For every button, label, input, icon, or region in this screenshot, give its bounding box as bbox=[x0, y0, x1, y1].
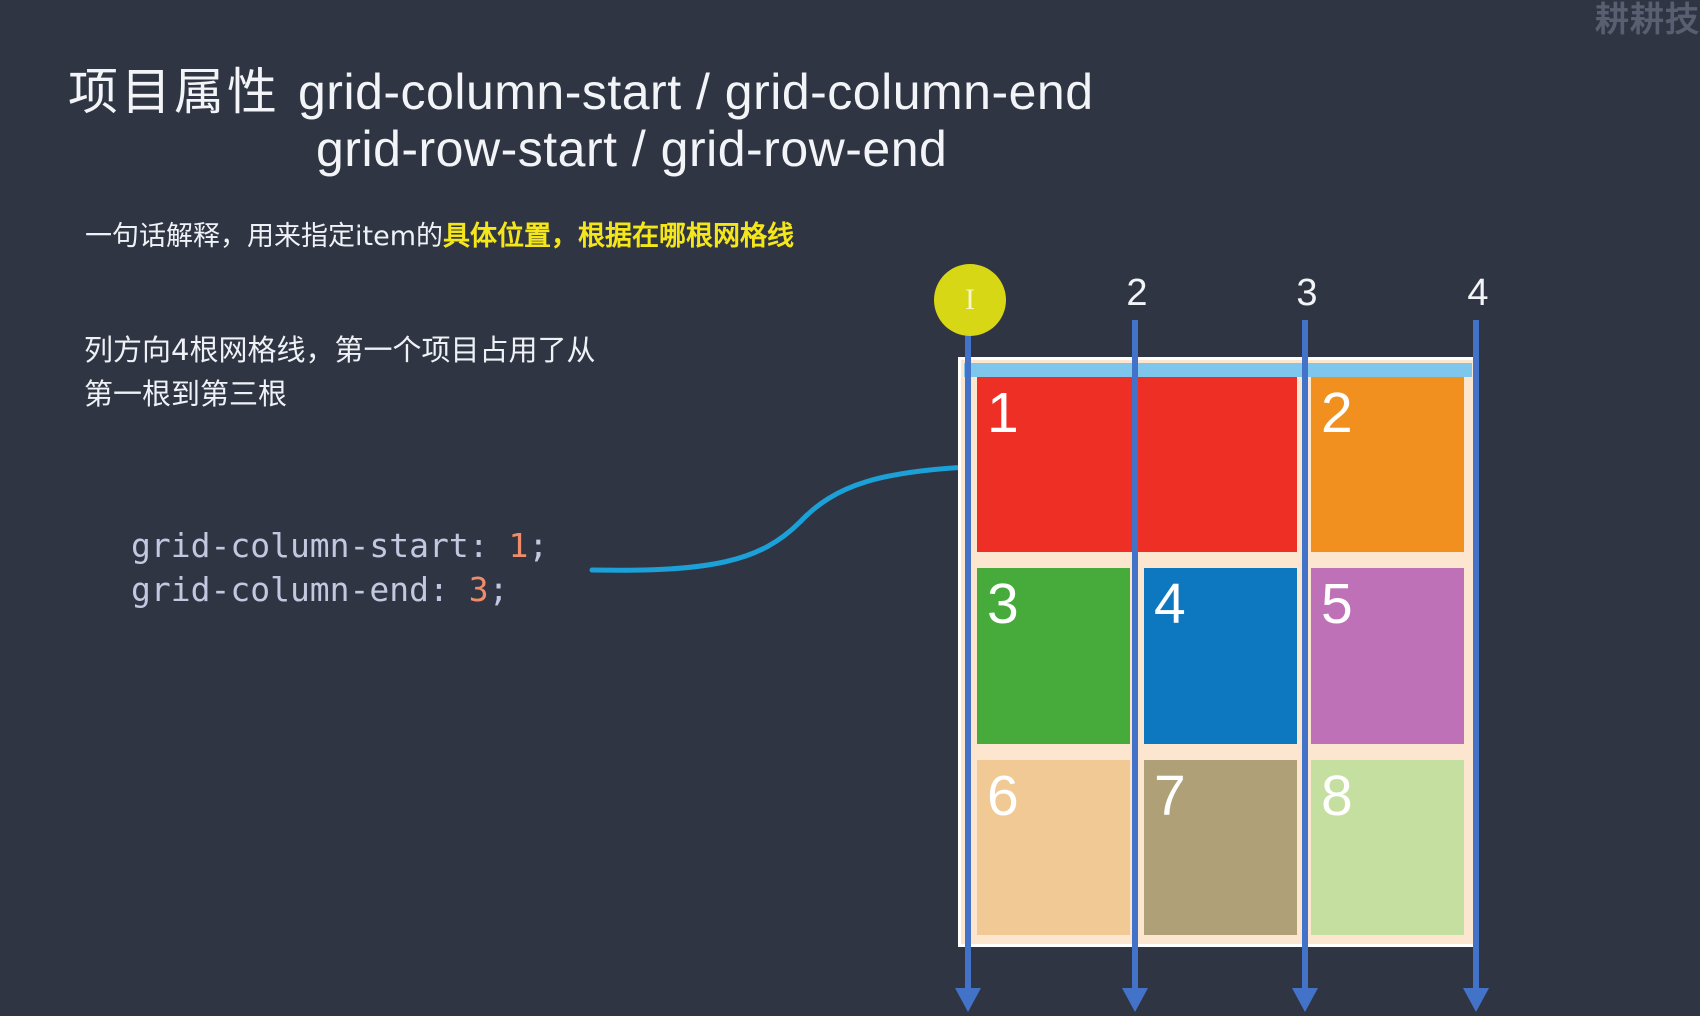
grid-item-label: 8 bbox=[1321, 764, 1353, 828]
code-line-2: grid-column-end: 3; bbox=[131, 568, 548, 612]
body-paragraph: 列方向4根网格线，第一个项目占用了从 第一根到第三根 bbox=[84, 328, 595, 416]
cursor-highlight: I bbox=[934, 264, 1006, 336]
code-semicolon: ; bbox=[528, 526, 548, 565]
grid-line-2 bbox=[1132, 320, 1138, 988]
grid-line-label-4: 4 bbox=[1467, 272, 1488, 315]
grid-line-arrowhead-3 bbox=[1292, 988, 1318, 1012]
subtitle: 一句话解释，用来指定item的具体位置，根据在哪根网格线 bbox=[85, 214, 794, 253]
grid-item-3[interactable]: 3 bbox=[977, 568, 1130, 743]
grid-item-label: 7 bbox=[1154, 764, 1186, 828]
slide-root: 耕耕技 项目属性grid-column-start / grid-column-… bbox=[0, 0, 1700, 1016]
code-snippet: grid-column-start: 1; grid-column-end: 3… bbox=[131, 524, 548, 612]
code-property: grid-column-start: bbox=[131, 526, 489, 565]
code-semicolon: ; bbox=[489, 570, 509, 609]
grid-item-8[interactable]: 8 bbox=[1311, 760, 1464, 935]
grid-item-6[interactable]: 6 bbox=[977, 760, 1130, 935]
grid-item-label: 6 bbox=[987, 764, 1019, 828]
watermark-text: 耕耕技 bbox=[1595, 0, 1700, 41]
grid-line-label-3: 3 bbox=[1296, 272, 1317, 315]
grid-cells: 1 2 3 4 5 6 7 8 bbox=[964, 377, 1472, 941]
grid-item-label: 4 bbox=[1154, 572, 1186, 636]
grid-line-1 bbox=[965, 320, 971, 988]
grid-line-4 bbox=[1473, 320, 1479, 988]
code-value: 3 bbox=[469, 570, 489, 609]
grid-item-label: 3 bbox=[987, 572, 1019, 636]
page-title-main: grid-column-start / grid-column-end bbox=[298, 64, 1094, 120]
connector-arrow bbox=[560, 430, 1000, 590]
code-value: 1 bbox=[509, 526, 529, 565]
page-title-second-line: grid-row-start / grid-row-end bbox=[316, 120, 947, 178]
page-title-prefix: 项目属性 bbox=[68, 63, 280, 121]
grid-line-arrowhead-1 bbox=[955, 988, 981, 1012]
grid-item-5[interactable]: 5 bbox=[1311, 568, 1464, 743]
subtitle-highlight: 具体位置，根据在哪根网格线 bbox=[443, 221, 794, 252]
grid-diagram: 1 2 3 4 5 6 7 8 bbox=[958, 357, 1478, 947]
code-property: grid-column-end: bbox=[131, 570, 449, 609]
grid-item-label: 1 bbox=[987, 381, 1019, 445]
grid-line-label-2: 2 bbox=[1126, 272, 1147, 315]
grid-item-2[interactable]: 2 bbox=[1311, 377, 1464, 552]
text-cursor-icon: I bbox=[965, 283, 975, 317]
grid-line-arrowhead-4 bbox=[1463, 988, 1489, 1012]
subtitle-plain: 一句话解释，用来指定item的 bbox=[85, 221, 443, 252]
grid-line-arrowhead-2 bbox=[1122, 988, 1148, 1012]
grid-item-label: 2 bbox=[1321, 381, 1353, 445]
grid-item-4[interactable]: 4 bbox=[1144, 568, 1297, 743]
grid-item-label: 5 bbox=[1321, 572, 1353, 636]
grid-item-7[interactable]: 7 bbox=[1144, 760, 1297, 935]
grid-top-bar bbox=[964, 363, 1472, 377]
grid-line-3 bbox=[1302, 320, 1308, 988]
code-line-1: grid-column-start: 1; bbox=[131, 524, 548, 568]
page-title: 项目属性grid-column-start / grid-column-end bbox=[68, 52, 1094, 124]
grid-container: 1 2 3 4 5 6 7 8 bbox=[958, 357, 1478, 947]
